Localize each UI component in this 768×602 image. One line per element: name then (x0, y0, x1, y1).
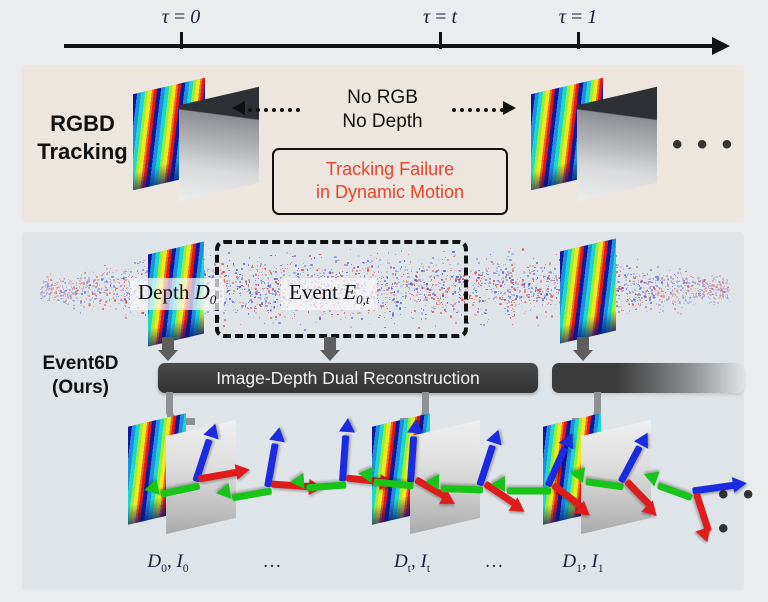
timeline-label-1: τ = 1 (559, 6, 597, 29)
bl1d-isub: 1 (598, 562, 604, 575)
timeline-arrow-head (712, 37, 730, 55)
bottom-label-1: D1, I1 (562, 551, 603, 576)
down-arrow-event-icon (320, 337, 340, 361)
recon-bar-label: Image-Depth Dual Reconstruction (158, 363, 538, 393)
pose-axis-y (441, 485, 483, 493)
tau-value: 1 (587, 6, 597, 28)
pose-axis-y (160, 483, 201, 498)
no-depth-text: No Depth (310, 110, 455, 134)
no-signal-note: No RGB No Depth (310, 86, 455, 134)
bottom-label-0: D0, I0 (147, 551, 188, 576)
equals-symbol: = (571, 6, 582, 28)
depth-tag-subscript: 0 (210, 292, 217, 307)
pose-axis-z (618, 445, 643, 484)
timeline-axis (64, 44, 714, 48)
tau-value: t (451, 6, 457, 28)
depth-tag-symbol: D (195, 280, 210, 304)
rgb-frame-start (179, 87, 259, 201)
equals-symbol: = (174, 6, 185, 28)
arrow-head-left-icon (232, 101, 245, 115)
pose-axis-y (306, 482, 346, 492)
tau-symbol: τ (162, 6, 169, 28)
rgbd-frame-stack-end (531, 86, 661, 196)
pose-axis-y-head-icon (491, 476, 505, 492)
pose-axis-y-head-icon (143, 479, 160, 498)
timeline-tick-t (439, 32, 442, 49)
rgbd-row-label-line2: Tracking (20, 138, 145, 166)
dotted-line-right (452, 108, 504, 112)
bottom-label-gap-1: … (263, 551, 282, 573)
blt-isub: t (427, 562, 430, 575)
tracking-failure-callout: Tracking Failure in Dynamic Motion (272, 148, 508, 215)
pose-axis-y (507, 488, 551, 495)
figure-root: τ = 0 τ = t τ = 1 RGBD Tracking • • • No… (0, 0, 768, 602)
timeline: τ = 0 τ = t τ = 1 (0, 0, 768, 58)
failure-line2: in Dynamic Motion (280, 181, 500, 204)
pose-frame-0 (163, 443, 235, 515)
pose-axis-y (232, 488, 273, 502)
pose-frame-3 (378, 443, 450, 515)
pose-axis-z-head-icon (407, 419, 424, 434)
pose-axis-y-head-icon (290, 473, 305, 490)
down-arrow-end-icon (573, 337, 593, 361)
bottom-label-t: Dt, It (394, 551, 430, 576)
event6d-row-label-line2: (Ours) (18, 376, 143, 400)
bl0-d: D (147, 551, 161, 572)
event6d-row-label: Event6D (Ours) (18, 352, 143, 400)
pose-axis-y-head-icon (425, 473, 440, 489)
pose-axis-z-head-icon (731, 475, 747, 493)
depth-input-tag: Depth D0 (130, 278, 224, 310)
pose-axis-y-head-icon (357, 465, 373, 482)
bl1-dots: … (263, 551, 282, 572)
pose-frame-5 (515, 448, 587, 520)
tau-symbol: τ (423, 6, 430, 28)
down-arrow-depth-icon (158, 337, 178, 361)
blt-d: D (394, 551, 408, 572)
tau-symbol: τ (559, 6, 566, 28)
pose-axis-y-head-icon (214, 483, 231, 501)
pose-axis-z-head-icon (269, 426, 287, 443)
pose-axis-z (407, 436, 417, 482)
timeline-label-0: τ = 0 (162, 6, 200, 29)
bl0-isub: 0 (183, 562, 189, 575)
arrow-head-right-icon (503, 101, 516, 115)
depth-tag-name: Depth (138, 280, 189, 304)
event-tag-symbol: E (343, 280, 356, 304)
rgbd-ellipsis: • • • (672, 128, 735, 162)
pose-frame-7 (657, 455, 729, 527)
event-tag-subscript: 0,t (356, 292, 369, 307)
pose-frame-4 (447, 447, 519, 519)
bl0-dsub: 0 (161, 562, 167, 575)
bottom-label-gap-2: … (485, 551, 504, 573)
pose-axis-x (198, 469, 239, 483)
timeline-label-t: τ = t (423, 6, 457, 29)
bl3-dots: … (485, 551, 504, 572)
tau-value: 0 (190, 6, 200, 28)
pose-axis-z-head-icon (339, 418, 356, 433)
rgbd-row-label-line1: RGBD (20, 110, 145, 138)
event-tag-name: Event (289, 280, 338, 304)
pose-axis-y (657, 482, 693, 501)
equals-symbol: = (435, 6, 446, 28)
timeline-tick-1 (577, 32, 580, 49)
recon-bar[interactable]: Image-Depth Dual Reconstruction (158, 363, 538, 393)
event-input-tag: Event E0,t (281, 278, 377, 310)
depth-frame-tau1 (560, 239, 616, 344)
timeline-tick-0 (180, 32, 183, 49)
pose-axis-y-head-icon (569, 465, 585, 483)
bl1d-dsub: 1 (576, 562, 582, 575)
no-rgb-text: No RGB (310, 86, 455, 110)
recon-bar-continuation (552, 363, 744, 393)
event6d-row-label-line1: Event6D (18, 352, 143, 376)
bl1d-d: D (562, 551, 576, 572)
pose-axis-z (545, 446, 568, 487)
dotted-line-left (248, 108, 300, 112)
rgb-frame-end (577, 87, 657, 201)
event-depth-frame-end (560, 245, 620, 343)
failure-line1: Tracking Failure (280, 158, 500, 181)
rgbd-row-label: RGBD Tracking (20, 110, 145, 165)
blt-dsub: t (408, 562, 411, 575)
